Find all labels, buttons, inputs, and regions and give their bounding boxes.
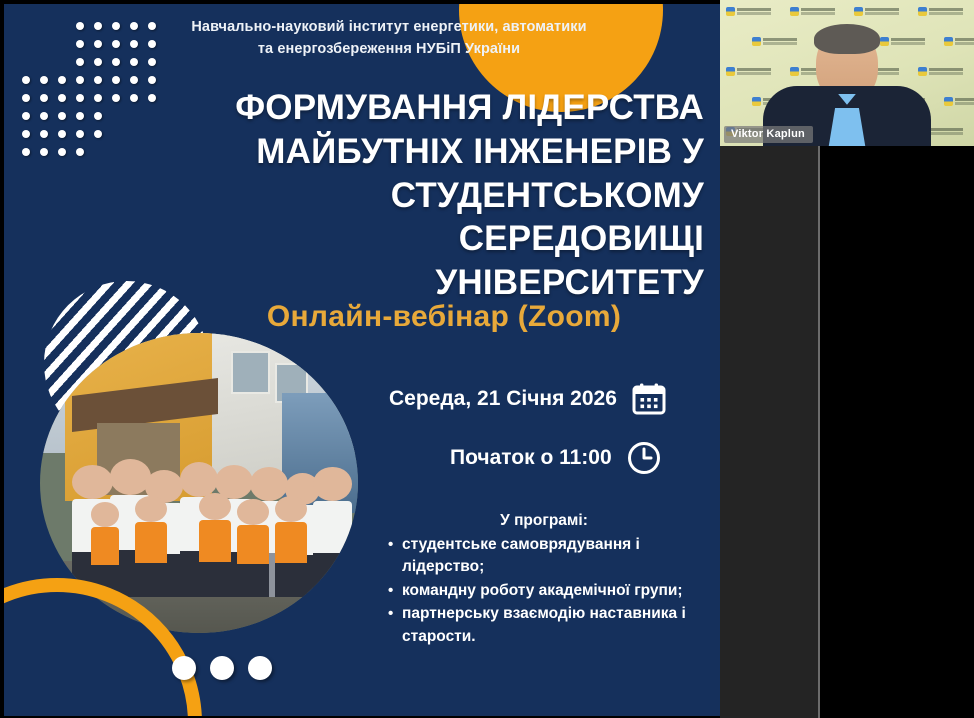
dot-grid-decoration [22,22,182,172]
dot-decoration [40,112,48,120]
dot-decoration [94,130,102,138]
dot-decoration [22,148,30,156]
page-title: ФОРМУВАННЯ ЛІДЕРСТВА МАЙБУТНІХ ІНЖЕНЕРІВ… [184,86,704,305]
dot-decoration [58,148,66,156]
webinar-subtitle: Онлайн-вебінар (Zoom) [184,300,704,334]
backdrop-logo [790,6,836,18]
dot-decoration [130,22,138,30]
dot-decoration [148,22,156,30]
dot-decoration [76,40,84,48]
side-panel-black [820,146,974,718]
zoom-meeting-screen: Навчально-науковий інститут енергетики, … [0,0,974,718]
title-line: ФОРМУВАННЯ ЛІДЕРСТВА [184,86,704,130]
dot-decoration [76,130,84,138]
dot-decoration [112,94,120,102]
dot-decoration [210,656,234,680]
dot-decoration [22,112,30,120]
program-item: командну роботу академічної групи; [402,580,704,602]
dot-decoration [40,76,48,84]
photo-students-group [40,453,358,597]
dot-decoration [112,76,120,84]
dot-decoration [76,94,84,102]
title-line: УНІВЕРСИТЕТУ [184,261,704,305]
clock-icon [626,440,662,476]
dot-decoration [94,94,102,102]
dot-decoration [94,40,102,48]
dot-decoration [76,76,84,84]
dot-decoration [58,130,66,138]
program-item: партнерську взаємодію наставника і старо… [402,603,704,648]
dot-decoration [112,22,120,30]
frame-edge-top [0,0,720,4]
shared-screen-slide: Навчально-науковий інститут енергетики, … [4,4,720,716]
participant-hair [814,24,880,54]
dot-decoration [40,148,48,156]
dot-decoration [40,130,48,138]
backdrop-logo [918,6,964,18]
title-line: МАЙБУТНІХ ІНЖЕНЕРІВ У [184,130,704,174]
dot-decoration [130,58,138,66]
photo-student [275,496,307,597]
institute-line: Навчально-науковий інститут енергетики, … [189,16,589,61]
photo-student [237,499,269,597]
dot-decoration [76,22,84,30]
program-list: студентське самоврядування і лідерство; … [384,534,704,648]
dot-decoration [40,94,48,102]
dot-decoration [248,656,272,680]
side-panel-grey [720,146,820,718]
dot-decoration [76,112,84,120]
dot-decoration [22,94,30,102]
dot-decoration [76,58,84,66]
participant-name-label: Viktor Kaplun [724,126,813,143]
three-dots-decoration [172,656,272,680]
dot-decoration [130,40,138,48]
program-item: студентське самоврядування і лідерство; [402,534,704,579]
dot-decoration [112,58,120,66]
dot-decoration [94,76,102,84]
dot-decoration [130,94,138,102]
frame-edge-left [0,0,4,718]
dot-decoration [76,148,84,156]
participant-video-tile[interactable]: Viktor Kaplun [720,0,974,146]
backdrop-logo [944,36,974,48]
event-date-text: Середа, 21 Січня 2026 [389,387,617,411]
program-block: У програмі: студентське самоврядування і… [384,512,704,649]
backdrop-logo [854,6,900,18]
dot-decoration [148,94,156,102]
program-heading: У програмі: [384,512,704,530]
dot-decoration [58,94,66,102]
dot-decoration [112,40,120,48]
photo-window [231,351,270,394]
backdrop-logo [944,96,974,108]
dot-decoration [58,112,66,120]
event-date-row: Середа, 21 Січня 2026 [389,382,667,416]
backdrop-logo [726,6,772,18]
dot-decoration [94,112,102,120]
dot-decoration [94,58,102,66]
dot-decoration [94,22,102,30]
event-time-text: Початок о 11:00 [450,446,612,470]
dot-decoration [148,40,156,48]
dot-decoration [148,76,156,84]
title-line: СТУДЕНТСЬКОМУ СЕРЕДОВИЩІ [184,174,704,262]
dot-decoration [172,656,196,680]
event-time-row: Початок о 11:00 [450,440,662,476]
photo-student [135,496,167,597]
dot-decoration [130,76,138,84]
calendar-icon [631,382,667,416]
dot-decoration [148,58,156,66]
dot-decoration [22,130,30,138]
photo-student [313,467,351,597]
dot-decoration [58,76,66,84]
dot-decoration [22,76,30,84]
photo-student [199,493,231,597]
